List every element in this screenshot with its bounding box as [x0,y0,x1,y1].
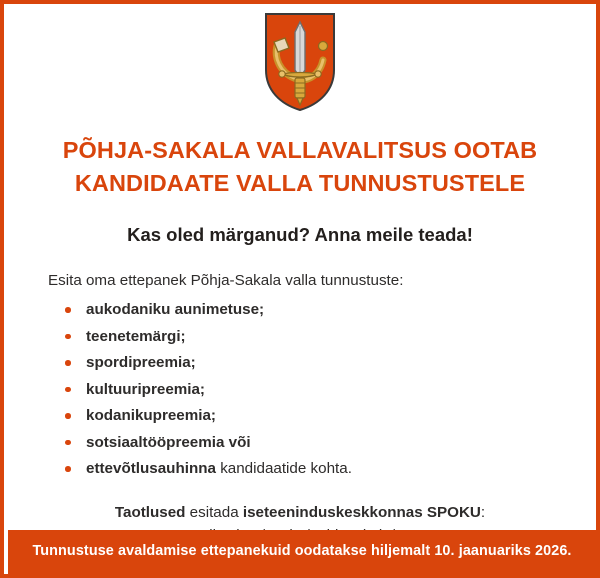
award-name: sotsiaaltööpreemia või [86,434,251,451]
page-title: PÕHJA-SAKALA VALLAVALITSUS OOTAB KANDIDA… [4,134,596,201]
award-name: ettevõtlusauhinna [86,460,216,477]
page-title-line-1: PÕHJA-SAKALA VALLAVALITSUS OOTAB [4,134,596,167]
list-item: aukodaniku aunimetuse; [62,300,552,319]
award-name: aukodaniku aunimetuse; [86,301,264,318]
page-title-line-2: KANDIDAATE VALLA TUNNUSTUSTELE [4,167,596,200]
crest-container [4,4,596,116]
announcement-poster: PÕHJA-SAKALA VALLAVALITSUS OOTAB KANDIDA… [0,0,600,578]
list-item: kodanikupreemia; [62,406,552,425]
list-item: kultuuripreemia; [62,380,552,399]
body-content: Esita oma ettepanek Põhja-Sakala valla t… [4,271,596,548]
intro-text: Esita oma ettepanek Põhja-Sakala valla t… [48,271,552,292]
list-item: teenetemärgi; [62,327,552,346]
deadline-banner: Tunnustuse avaldamise ettepanekuid oodat… [8,530,596,574]
deadline-text: Tunnustuse avaldamise ettepanekuid oodat… [32,543,571,560]
award-note: kandidaatide kohta. [216,460,352,477]
subheading: Kas oled märganud? Anna meile teada! [4,223,596,247]
apply-middle: esitada [185,504,242,521]
apply-channel: iseteeninduskeskkonnas SPOKU [243,504,481,521]
apply-label: Taotlused [115,504,186,521]
award-name: kodanikupreemia; [86,407,216,424]
list-item: ettevõtlusauhinna kandidaatide kohta. [62,459,552,478]
award-name: spordipreemia; [86,354,196,371]
award-name: kultuuripreemia; [86,381,205,398]
apply-suffix: : [481,504,485,521]
award-name: teenetemärgi; [86,328,186,345]
list-item: sotsiaaltööpreemia või [62,433,552,452]
pohja-sakala-coat-of-arms-icon [264,12,336,112]
list-item: spordipreemia; [62,353,552,372]
award-categories-list: aukodaniku aunimetuse; teenetemärgi; spo… [48,300,552,478]
